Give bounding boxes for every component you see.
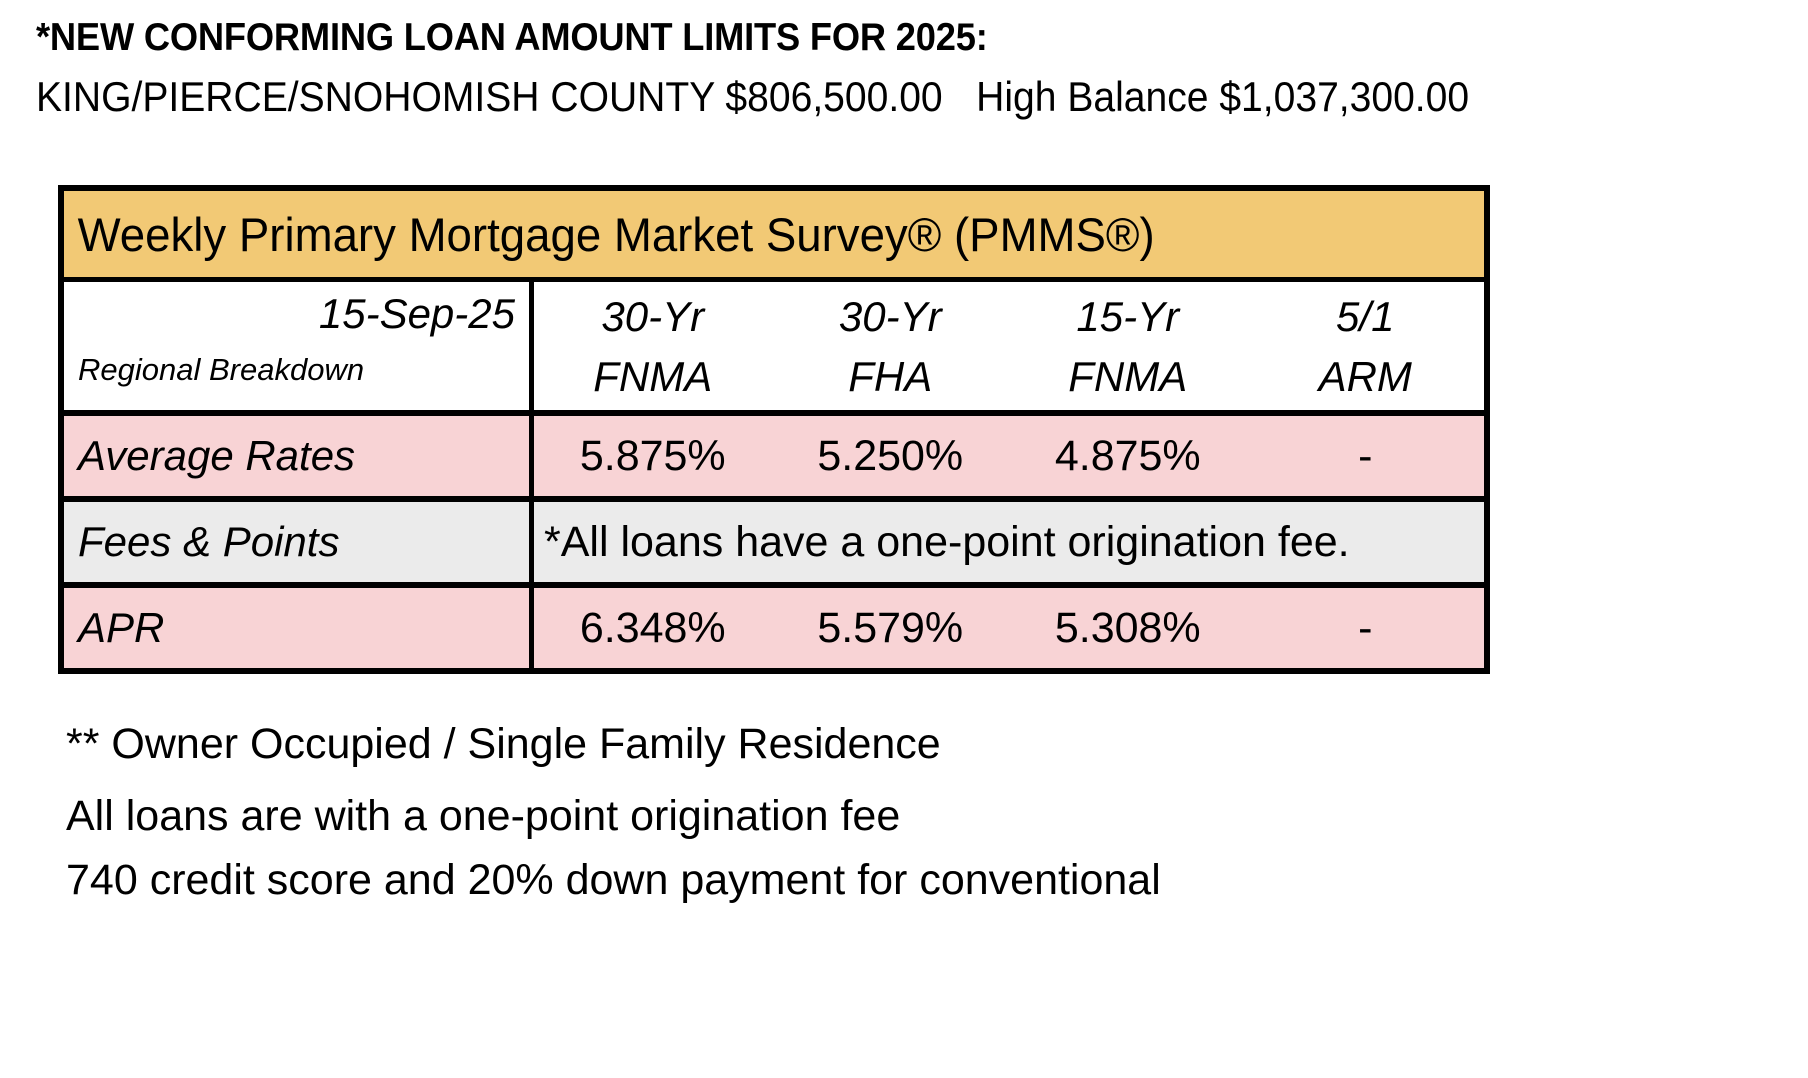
pmms-rate-table: Weekly Primary Mortgage Market Survey® (… bbox=[58, 185, 1490, 674]
table-header-row: 15-Sep-25 Regional Breakdown 30-Yr FNMA … bbox=[64, 282, 1484, 416]
footnote-credit-score: 740 credit score and 20% down payment fo… bbox=[66, 848, 1766, 912]
row-values-apr: 6.348% 5.579% 5.308% - bbox=[534, 588, 1484, 668]
column-term: 15-Yr bbox=[1076, 288, 1179, 346]
column-header-51-arm: 5/1 ARM bbox=[1247, 282, 1485, 410]
row-label-average-rates: Average Rates bbox=[64, 416, 534, 496]
apr-30yr-fha: 5.579% bbox=[772, 588, 1010, 668]
table-row-apr: APR 6.348% 5.579% 5.308% - bbox=[64, 588, 1484, 668]
rate-51-arm: - bbox=[1247, 416, 1485, 496]
column-term: 5/1 bbox=[1336, 288, 1394, 346]
apr-15yr-fnma: 5.308% bbox=[1009, 588, 1247, 668]
table-title-bar: Weekly Primary Mortgage Market Survey® (… bbox=[64, 191, 1484, 282]
rate-30yr-fnma: 5.875% bbox=[534, 416, 772, 496]
column-program: ARM bbox=[1319, 346, 1412, 408]
footnote-origination-fee: All loans are with a one-point originati… bbox=[66, 784, 1766, 848]
table-row-fees-points: Fees & Points *All loans have a one-poin… bbox=[64, 502, 1484, 588]
row-label-fees-points: Fees & Points bbox=[64, 502, 534, 582]
column-header-30yr-fha: 30-Yr FHA bbox=[772, 282, 1010, 410]
regional-breakdown-label: Regional Breakdown bbox=[78, 352, 364, 388]
row-values-average-rates: 5.875% 5.250% 4.875% - bbox=[534, 416, 1484, 496]
column-term: 30-Yr bbox=[839, 288, 942, 346]
column-program: FNMA bbox=[1068, 346, 1187, 408]
fees-points-note: *All loans have a one-point origination … bbox=[534, 502, 1484, 582]
header-label-cell: 15-Sep-25 Regional Breakdown bbox=[64, 282, 534, 410]
high-balance-limit-text: High Balance $1,037,300.00 bbox=[976, 73, 1469, 120]
county-limit-text: KING/PIERCE/SNOHOMISH COUNTY $806,500.00 bbox=[36, 73, 943, 120]
header-columns: 30-Yr FNMA 30-Yr FHA 15-Yr FNMA 5/1 ARM bbox=[534, 282, 1484, 410]
apr-30yr-fnma: 6.348% bbox=[534, 588, 772, 668]
column-header-30yr-fnma: 30-Yr FNMA bbox=[534, 282, 772, 410]
row-label-apr: APR bbox=[64, 588, 534, 668]
footnotes-block: ** Owner Occupied / Single Family Reside… bbox=[66, 712, 1766, 912]
conforming-limits-title: *NEW CONFORMING LOAN AMOUNT LIMITS FOR 2… bbox=[36, 14, 1673, 62]
column-program: FHA bbox=[848, 346, 932, 408]
footnote-occupancy: ** Owner Occupied / Single Family Reside… bbox=[66, 712, 1766, 776]
page-heading-block: *NEW CONFORMING LOAN AMOUNT LIMITS FOR 2… bbox=[36, 14, 1796, 124]
column-header-15yr-fnma: 15-Yr FNMA bbox=[1009, 282, 1247, 410]
rate-15yr-fnma: 4.875% bbox=[1009, 416, 1247, 496]
county-limits-line: KING/PIERCE/SNOHOMISH COUNTY $806,500.00… bbox=[36, 70, 1673, 124]
row-values-fees-points: *All loans have a one-point origination … bbox=[534, 502, 1484, 582]
table-row-average-rates: Average Rates 5.875% 5.250% 4.875% - bbox=[64, 416, 1484, 502]
rate-30yr-fha: 5.250% bbox=[772, 416, 1010, 496]
survey-date: 15-Sep-25 bbox=[319, 290, 515, 338]
apr-51-arm: - bbox=[1247, 588, 1485, 668]
column-program: FNMA bbox=[593, 346, 712, 408]
table-title-text: Weekly Primary Mortgage Market Survey® (… bbox=[64, 207, 1155, 262]
column-term: 30-Yr bbox=[601, 288, 704, 346]
